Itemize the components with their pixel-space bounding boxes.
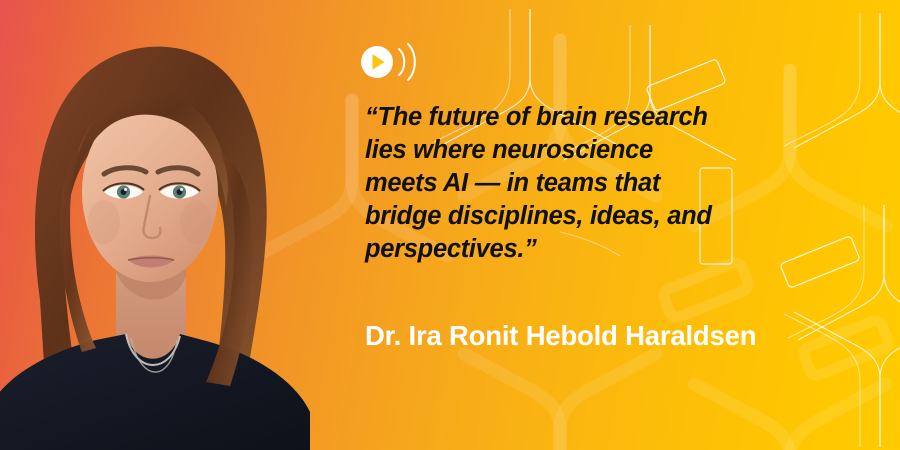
attribution-name: Dr. Ira Ronit Hebold Haraldsen xyxy=(365,320,756,352)
portrait-image xyxy=(0,0,310,450)
quote-card: “The future of brain research lies where… xyxy=(0,0,900,450)
audio-play-icon[interactable] xyxy=(359,42,429,82)
cheek-shadow-left xyxy=(88,200,120,244)
quote-text: “The future of brain research lies where… xyxy=(365,101,795,266)
sound-wave-outer-icon xyxy=(408,44,415,80)
sound-wave-inner-icon xyxy=(399,49,404,75)
cheek-shadow-right xyxy=(180,200,212,244)
avatar xyxy=(0,0,310,450)
